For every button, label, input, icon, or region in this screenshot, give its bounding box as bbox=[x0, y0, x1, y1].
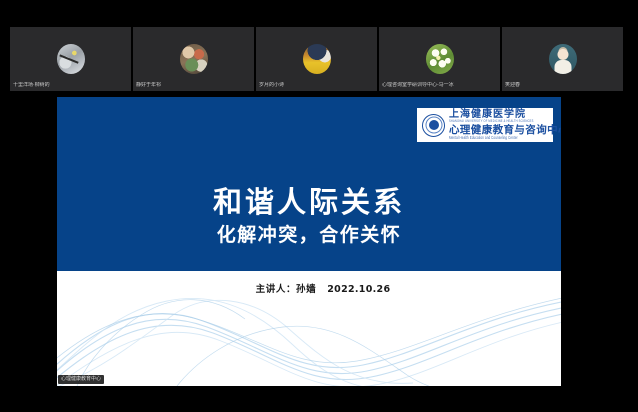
participant-tile[interactable]: 十里洋场·柳树的 bbox=[10, 27, 131, 91]
slide-title-block: 和谐人际关系 化解冲突，合作关怀 bbox=[57, 185, 561, 248]
participant-name: 心理咨询室学硏训导中心-马一冰 bbox=[382, 82, 454, 89]
participant-tile[interactable]: 岁月的小诗 bbox=[256, 27, 377, 91]
participant-filmstrip: 十里洋场·柳树的 静好于年祁 岁月的小诗 心理咨询室学硏训导中心-马一冰 笑迎春 bbox=[0, 27, 638, 91]
presenter-line: 主讲人：孙嫱2022.10.26 bbox=[57, 281, 561, 295]
screenshare-name-badge: 心理健康教育中心 bbox=[58, 375, 104, 384]
university-crest-icon bbox=[422, 114, 445, 137]
shared-slide[interactable]: 上海健康医学院 SHANGHAI UNIVERSITY OF MEDICINE … bbox=[57, 97, 561, 386]
slide-white-panel: 主讲人：孙嫱2022.10.26 上海健康医学院 SHANGHAI UNIVER… bbox=[57, 271, 561, 386]
logo-center-name-en: Mental Health Education and Counseling C… bbox=[449, 137, 561, 141]
presenter-label: 主讲人：孙嫱 bbox=[256, 284, 317, 295]
presentation-date: 2022.10.26 bbox=[327, 284, 390, 295]
video-conference-window: 十里洋场·柳树的 静好于年祁 岁月的小诗 心理咨询室学硏训导中心-马一冰 笑迎春… bbox=[0, 0, 638, 412]
slide-subtitle: 化解冲突，合作关怀 bbox=[57, 222, 561, 248]
logo-text-block: 上海健康医学院 SHANGHAI UNIVERSITY OF MEDICINE … bbox=[449, 110, 561, 140]
institution-logo-top: 上海健康医学院 SHANGHAI UNIVERSITY OF MEDICINE … bbox=[417, 108, 553, 142]
avatar bbox=[426, 44, 454, 74]
avatar bbox=[303, 44, 331, 74]
participant-name: 十里洋场·柳树的 bbox=[13, 82, 50, 89]
participant-tile[interactable]: 心理咨询室学硏训导中心-马一冰 bbox=[379, 27, 500, 91]
avatar bbox=[180, 44, 208, 74]
avatar bbox=[57, 44, 85, 74]
logo-university-name-en: SHANGHAI UNIVERSITY OF MEDICINE & HEALTH… bbox=[449, 121, 561, 125]
participant-name: 静好于年祁 bbox=[136, 82, 161, 89]
participant-name: 岁月的小诗 bbox=[259, 82, 284, 89]
participant-tile[interactable]: 静好于年祁 bbox=[133, 27, 254, 91]
participant-name: 笑迎春 bbox=[505, 82, 520, 89]
avatar bbox=[549, 44, 577, 74]
slide-title: 和谐人际关系 bbox=[57, 185, 561, 219]
participant-tile[interactable]: 笑迎春 bbox=[502, 27, 623, 91]
